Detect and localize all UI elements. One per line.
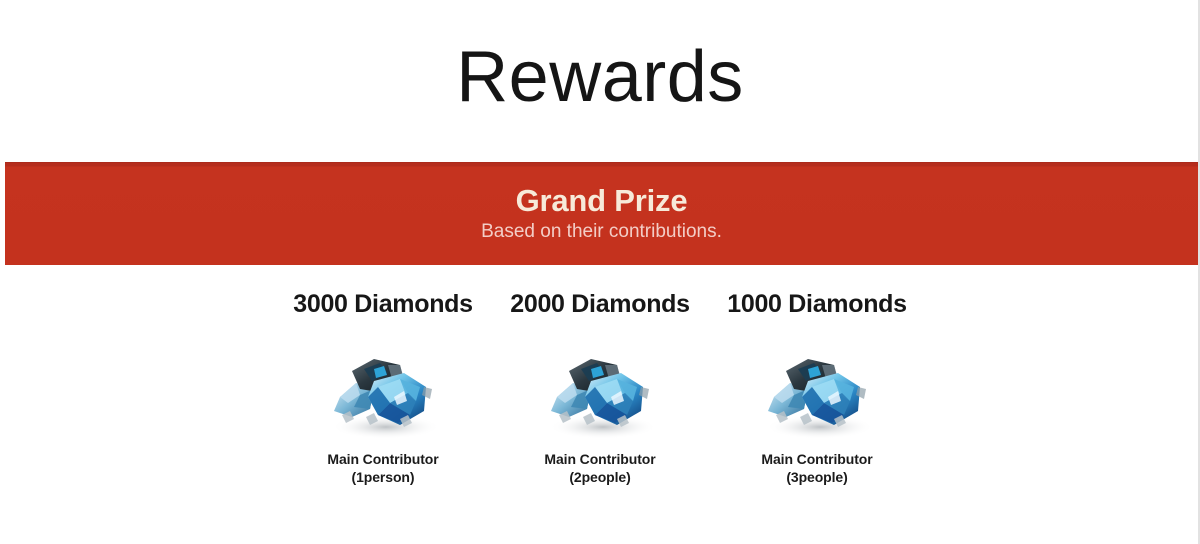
- prize-role-count: (3people): [761, 469, 872, 487]
- prize-list: 3000 Diamonds: [0, 292, 1200, 522]
- prize-amount: 1000 Diamonds: [727, 292, 907, 317]
- prize-column: 1000 Diamonds: [709, 292, 926, 487]
- prize-amount: 2000 Diamonds: [510, 292, 690, 317]
- prize-column: 2000 Diamonds: [492, 292, 709, 487]
- prize-role-count: (2people): [544, 469, 655, 487]
- prize-role: Main Contributor (2people): [544, 451, 655, 487]
- prize-role-label: Main Contributor: [327, 451, 438, 467]
- grand-prize-banner: Grand Prize Based on their contributions…: [5, 162, 1198, 265]
- prize-role-label: Main Contributor: [761, 451, 872, 467]
- prize-role-label: Main Contributor: [544, 451, 655, 467]
- banner-title: Grand Prize: [516, 185, 688, 218]
- prize-amount: 3000 Diamonds: [293, 292, 473, 317]
- diamond-cluster-icon: [525, 335, 675, 443]
- page-title: Rewards: [456, 41, 744, 119]
- prize-role: Main Contributor (3people): [761, 451, 872, 487]
- diamond-cluster-icon: [742, 335, 892, 443]
- title-area: Rewards: [0, 0, 1200, 160]
- diamond-cluster-icon: [308, 335, 458, 443]
- rewards-page: Rewards Grand Prize Based on their contr…: [0, 0, 1200, 544]
- prize-role-count: (1person): [327, 469, 438, 487]
- prize-column: 3000 Diamonds: [275, 292, 492, 487]
- banner-subtitle: Based on their contributions.: [481, 222, 722, 243]
- prize-role: Main Contributor (1person): [327, 451, 438, 487]
